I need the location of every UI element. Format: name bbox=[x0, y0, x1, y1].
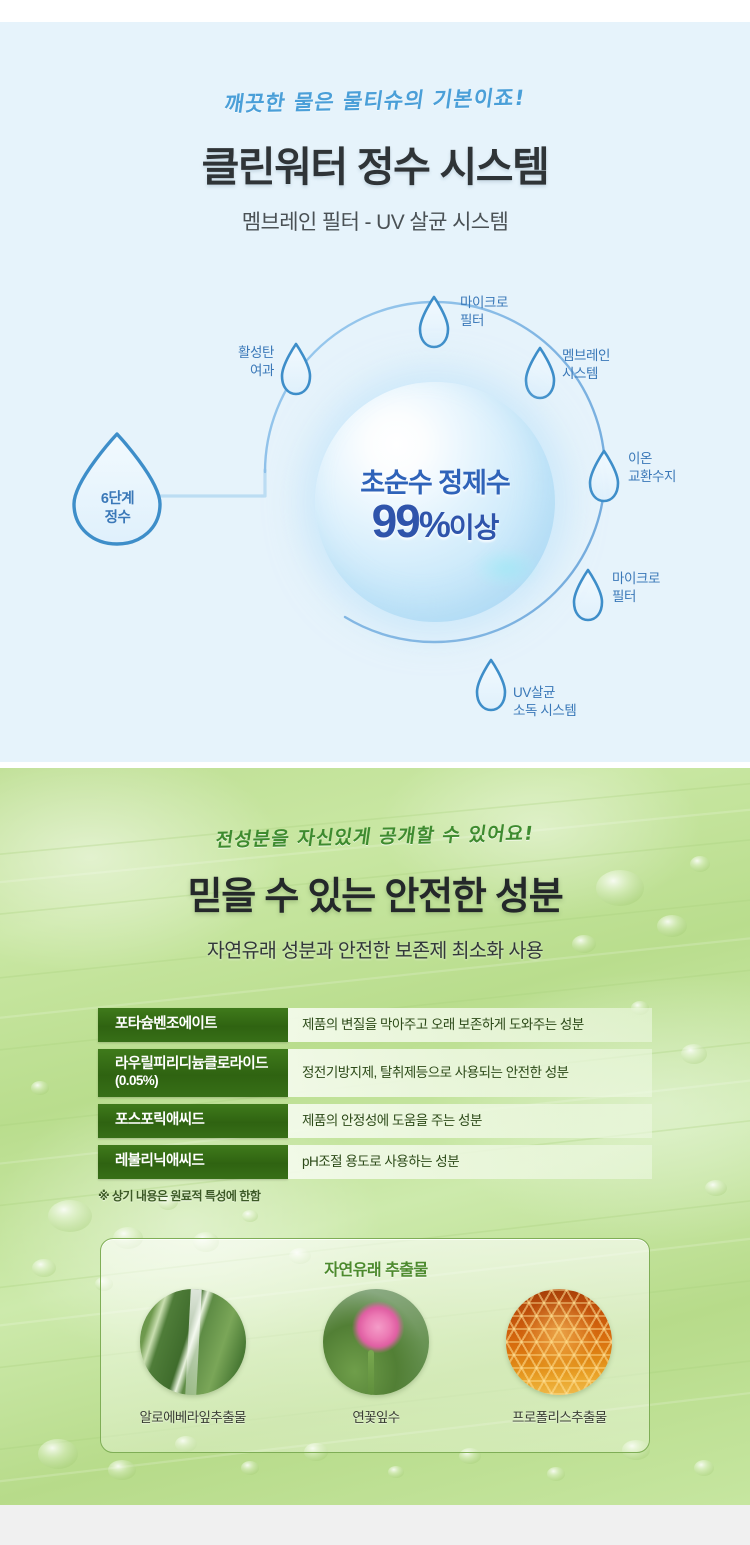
table-row: 포스포릭애씨드 제품의 안정성에 도움을 주는 성분 bbox=[98, 1104, 652, 1138]
stage3-line2: 교환수지 bbox=[628, 469, 676, 484]
list-item: 프로폴리스추출물 bbox=[479, 1289, 639, 1426]
natural-extracts-list: 알로에베라잎추출물 연꽃잎수 프로폴리스추출물 bbox=[101, 1289, 650, 1426]
stage1-line1: 마이크로 bbox=[460, 295, 508, 310]
purification-diagram: 초순수 정제수 99%이상 6단계 정수 활성탄 여과 마이크로 필터 bbox=[0, 252, 750, 762]
ingredient-desc-cell: pH조절 용도로 사용하는 성분 bbox=[288, 1145, 652, 1179]
lotus-flower-image bbox=[323, 1289, 429, 1395]
stage-droplet-micro-filter-1 bbox=[420, 297, 448, 347]
ingredient-name: 레불리닉애씨드 bbox=[115, 1153, 288, 1170]
top-white-strip bbox=[0, 0, 750, 22]
stage-droplet-micro-filter-2 bbox=[574, 570, 602, 620]
product-detail-page: 깨끗한 물은 물티슈의 기본이죠! 클린워터 정수 시스템 멤브레인 필터 - … bbox=[0, 0, 750, 1545]
ingredient-desc-cell: 정전기방지제, 탈취제등으로 사용되는 안전한 성분 bbox=[288, 1049, 652, 1097]
stage3-line1: 이온 bbox=[628, 451, 652, 466]
stage-droplet-uv bbox=[477, 660, 505, 710]
ingredient-name-cell: 라우릴피리디늄클로라이드 (0.05%) bbox=[98, 1049, 288, 1097]
purity-value: 99 bbox=[372, 495, 419, 547]
stage4-line1: 마이크로 bbox=[612, 571, 660, 586]
purity-qualifier: 이상 bbox=[449, 512, 499, 543]
ingredients-table: 포타슘벤조에이트 제품의 변질을 막아주고 오래 보존하게 도와주는 성분 라우… bbox=[98, 1008, 652, 1204]
purity-unit: % bbox=[419, 504, 449, 545]
stage0-line1: 활성탄 bbox=[238, 345, 274, 360]
list-item: 연꽃잎수 bbox=[296, 1289, 456, 1426]
ingredients-footnote: ※ 상기 내용은 원료적 특성에 한함 bbox=[98, 1187, 652, 1204]
ingredient-desc-cell: 제품의 변질을 막아주고 오래 보존하게 도와주는 성분 bbox=[288, 1008, 652, 1042]
entry-droplet-label: 6단계 정수 bbox=[75, 490, 160, 527]
table-row: 포타슘벤조에이트 제품의 변질을 막아주고 오래 보존하게 도와주는 성분 bbox=[98, 1008, 652, 1042]
stage4-line2: 필터 bbox=[612, 589, 636, 604]
page-footer-strip bbox=[0, 1505, 750, 1545]
honeycomb-propolis-image bbox=[506, 1289, 612, 1395]
natural-extracts-panel: 자연유래 추출물 알로에베라잎추출물 연꽃잎수 프로폴리스추출물 bbox=[100, 1238, 650, 1453]
ingredients-section-header: 전성분을 자신있게 공개할 수 있어요! 믿을 수 있는 안전한 성분 자연유래… bbox=[0, 768, 750, 963]
ingredient-name: 포스포릭애씨드 bbox=[115, 1112, 288, 1129]
extract-label: 프로폴리스추출물 bbox=[479, 1406, 639, 1426]
water-section-title: 클린워터 정수 시스템 bbox=[0, 133, 750, 193]
water-section-header: 깨끗한 물은 물티슈의 기본이죠! 클린워터 정수 시스템 멤브레인 필터 - … bbox=[0, 22, 750, 236]
list-item: 알로에베라잎추출물 bbox=[113, 1289, 273, 1426]
stage0-line2: 여과 bbox=[250, 363, 274, 378]
ingredients-section-subtitle: 자연유래 성분과 안전한 보존제 최소화 사용 bbox=[0, 934, 750, 963]
water-script-line: 깨끗한 물은 물티슈의 기본이죠! bbox=[0, 77, 750, 123]
purity-bubble-text: 초순수 정제수 99%이상 bbox=[315, 382, 555, 622]
ingredients-script-line: 전성분을 자신있게 공개할 수 있어요! bbox=[0, 814, 750, 857]
entry-label-line2: 정수 bbox=[75, 509, 160, 528]
extract-label: 연꽃잎수 bbox=[296, 1406, 456, 1426]
purity-value-row: 99%이상 bbox=[372, 498, 499, 544]
clean-water-section: 깨끗한 물은 물티슈의 기본이죠! 클린워터 정수 시스템 멤브레인 필터 - … bbox=[0, 22, 750, 762]
ingredient-desc-cell: 제품의 안정성에 도움을 주는 성분 bbox=[288, 1104, 652, 1138]
natural-extracts-title: 자연유래 추출물 bbox=[101, 1256, 650, 1280]
stage5-line1: UV살균 bbox=[513, 685, 555, 700]
stage5-line2: 소독 시스템 bbox=[513, 703, 576, 718]
stage2-line2: 시스템 bbox=[562, 366, 598, 381]
aloe-leaf-image bbox=[140, 1289, 246, 1395]
stage-droplet-activated-carbon bbox=[282, 344, 310, 394]
entry-droplet-shape bbox=[74, 434, 160, 544]
ingredient-name-cell: 레불리닉애씨드 bbox=[98, 1145, 288, 1179]
stage2-line1: 멤브레인 bbox=[562, 348, 610, 363]
safe-ingredients-section: 전성분을 자신있게 공개할 수 있어요! 믿을 수 있는 안전한 성분 자연유래… bbox=[0, 768, 750, 1505]
table-row: 레불리닉애씨드 pH조절 용도로 사용하는 성분 bbox=[98, 1145, 652, 1179]
ingredient-name: 라우릴피리디늄클로라이드 bbox=[115, 1056, 288, 1073]
water-section-subtitle: 멤브레인 필터 - UV 살균 시스템 bbox=[0, 206, 750, 236]
ingredient-name-cell: 포스포릭애씨드 bbox=[98, 1104, 288, 1138]
stage1-line2: 필터 bbox=[460, 313, 484, 328]
ingredient-name-cell: 포타슘벤조에이트 bbox=[98, 1008, 288, 1042]
ingredients-section-title: 믿을 수 있는 안전한 성분 bbox=[0, 865, 750, 920]
extract-label: 알로에베라잎추출물 bbox=[113, 1406, 273, 1426]
stage-droplet-ion-exchange bbox=[590, 451, 618, 501]
ingredient-name-sub: (0.05%) bbox=[115, 1073, 288, 1089]
entry-label-line1: 6단계 bbox=[75, 490, 160, 509]
table-row: 라우릴피리디늄클로라이드 (0.05%) 정전기방지제, 탈취제등으로 사용되는… bbox=[98, 1049, 652, 1097]
ingredient-name: 포타슘벤조에이트 bbox=[115, 1016, 288, 1033]
